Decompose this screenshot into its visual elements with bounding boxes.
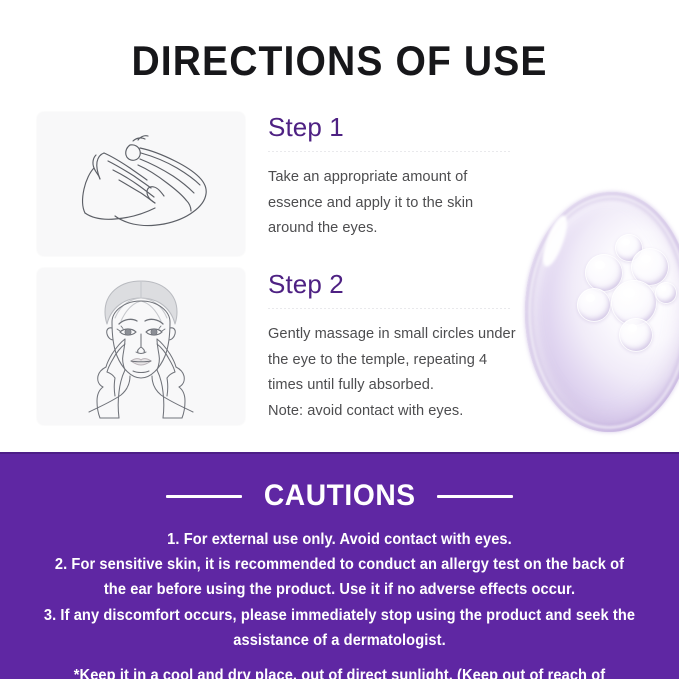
bubble-icon <box>655 282 677 304</box>
lavender-serum-droplet-with-bubbles-icon <box>525 192 679 434</box>
page-title: DIRECTIONS OF USE <box>24 40 655 82</box>
hands-fingertips-touching-illustration <box>37 112 245 256</box>
step-2-heading: Step 2 <box>268 270 518 299</box>
step-2-text-block: Step 2 Gently massage in small circles u… <box>268 270 518 424</box>
caution-footnote: *Keep it in a cool and dry place, out of… <box>44 663 636 679</box>
droplet-body <box>525 192 679 432</box>
rule-left <box>166 495 242 498</box>
spacer <box>28 653 651 663</box>
step-1-text-block: Step 1 Take an appropriate amount of ess… <box>268 113 518 242</box>
rule-right <box>437 495 513 498</box>
cautions-list: 1. For external use only. Avoid contact … <box>0 527 679 679</box>
cautions-section: CAUTIONS 1. For external use only. Avoid… <box>0 452 679 679</box>
step-2-image-card <box>37 268 245 425</box>
cautions-title: CAUTIONS <box>264 481 416 511</box>
step-2-note: Note: avoid contact with eyes. <box>268 399 518 425</box>
step-2-body: Gently massage in small circles under th… <box>268 322 518 424</box>
step-2-divider <box>268 308 511 309</box>
caution-item: 3. If any discomfort occurs, please imme… <box>44 603 636 653</box>
bubble-icon <box>577 288 611 322</box>
bubble-icon <box>631 248 669 286</box>
step-2-body-text: Gently massage in small circles under th… <box>268 326 516 393</box>
bubble-icon <box>611 280 657 326</box>
droplet-rim <box>525 192 679 432</box>
step-1-body: Take an appropriate amount of essence an… <box>268 165 518 242</box>
product-instructions-graphic: DIRECTIONS OF USE <box>0 0 679 679</box>
directions-section: DIRECTIONS OF USE <box>0 0 679 452</box>
step-1-image-card <box>37 112 245 256</box>
bubble-icon <box>615 234 643 262</box>
droplet-highlight <box>538 213 572 269</box>
cautions-header: CAUTIONS <box>0 481 679 511</box>
droplet-inner-rim <box>528 195 679 429</box>
caution-item: 1. For external use only. Avoid contact … <box>44 527 636 552</box>
caution-item: 2. For sensitive skin, it is recommended… <box>44 552 636 602</box>
bubble-icon <box>619 318 653 352</box>
bubble-icon <box>585 254 623 292</box>
bubble-cluster <box>585 234 679 352</box>
woman-face-massage-under-eyes-illustration <box>37 268 245 425</box>
step-1-heading: Step 1 <box>268 113 518 142</box>
step-1-divider <box>268 151 511 152</box>
